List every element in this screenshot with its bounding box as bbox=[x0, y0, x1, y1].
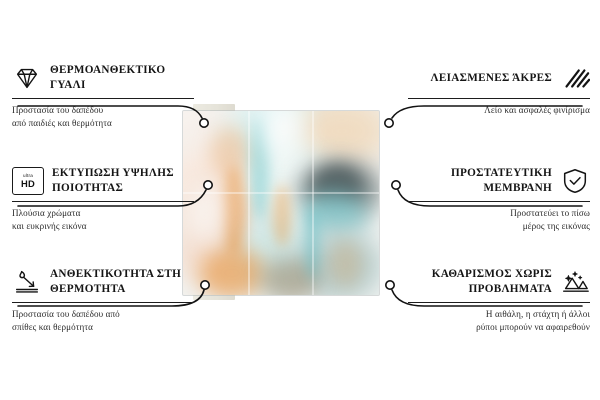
feature-heading: ultra HD ΕΚΤΥΠΩΣΗ ΥΨΗΛΗΣ ΠΟΙΟΤΗΤΑΣ bbox=[12, 165, 194, 197]
ultra-hd-icon: ultra HD bbox=[12, 167, 44, 195]
infographic-canvas: ΘΕΡΜΟΑΝΘΕΚΤΙΚΟ ΓΥΑΛΙ Προστασία του δαπέδ… bbox=[0, 0, 600, 400]
divider bbox=[408, 302, 590, 303]
feature-heading: ΑΝΘΕΚΤΙΚΟΤΗΤΑ ΣΤΗ ΘΕΡΜΟΤΗΤΑ bbox=[12, 266, 194, 298]
feature-description: Λείο και ασφαλές φινίρισμα bbox=[408, 104, 590, 117]
feature-high-quality-print[interactable]: ultra HD ΕΚΤΥΠΩΣΗ ΥΨΗΛΗΣ ΠΟΙΟΤΗΤΑΣ Πλούσ… bbox=[12, 165, 194, 233]
diamond-icon bbox=[12, 63, 42, 93]
feature-polished-edges[interactable]: ΛΕΙΑΣΜΕΝΕΣ ΆΚΡΕΣ Λείο και ασφαλές φινίρι… bbox=[408, 62, 590, 117]
feature-title: ΚΑΘΑΡΙΣΜΟΣ ΧΩΡΙΣ ΠΡΟΒΛΗΜΑΤΑ bbox=[408, 267, 552, 297]
feature-description: Προστατεύει το πίσω μέρος της εικόνας bbox=[408, 207, 590, 233]
feature-heading: ΚΑΘΑΡΙΣΜΟΣ ΧΩΡΙΣ ΠΡΟΒΛΗΜΑΤΑ bbox=[408, 266, 590, 298]
feature-heading: ΘΕΡΜΟΑΝΘΕΚΤΙΚΟ ΓΥΑΛΙ bbox=[12, 62, 194, 94]
feature-protective-membrane[interactable]: ΠΡΟΣΤΑΤΕΥΤΙΚΗ ΜΕΜΒΡΑΝΗ Προστατεύει το πί… bbox=[408, 165, 590, 233]
flame-resistance-icon bbox=[12, 267, 42, 297]
feature-heading: ΠΡΟΣΤΑΤΕΥΤΙΚΗ ΜΕΜΒΡΑΝΗ bbox=[408, 165, 590, 197]
feature-title: ΕΚΤΥΠΩΣΗ ΥΨΗΛΗΣ ΠΟΙΟΤΗΤΑΣ bbox=[52, 166, 194, 196]
divider bbox=[12, 98, 194, 99]
product-artwork bbox=[183, 111, 379, 295]
feature-heading: ΛΕΙΑΣΜΕΝΕΣ ΆΚΡΕΣ bbox=[408, 62, 590, 94]
divider bbox=[12, 302, 194, 303]
feature-easy-cleaning[interactable]: ΚΑΘΑΡΙΣΜΟΣ ΧΩΡΙΣ ΠΡΟΒΛΗΜΑΤΑ Η αιθάλη, η … bbox=[408, 266, 590, 334]
feature-description: Πλούσια χρώματα και ευκρινής εικόνα bbox=[12, 207, 194, 233]
feature-heat-durability[interactable]: ΑΝΘΕΚΤΙΚΟΤΗΤΑ ΣΤΗ ΘΕΡΜΟΤΗΤΑ Προστασία το… bbox=[12, 266, 194, 334]
sparkle-clean-icon bbox=[560, 267, 590, 297]
shield-check-icon bbox=[560, 166, 590, 196]
feature-description: Η αιθάλη, η στάχτη ή άλλοι ρύποι μπορούν… bbox=[408, 308, 590, 334]
polished-edges-icon bbox=[560, 63, 590, 93]
ultra-hd-big-label: HD bbox=[21, 179, 35, 188]
feature-description: Προστασία του δαπέδου από σπίθες και θερ… bbox=[12, 308, 194, 334]
divider bbox=[12, 201, 194, 202]
feature-title: ΛΕΙΑΣΜΕΝΕΣ ΆΚΡΕΣ bbox=[431, 71, 552, 86]
feature-description: Προστασία του δαπέδου από παιδιές και θε… bbox=[12, 104, 194, 130]
feature-heat-resistant-glass[interactable]: ΘΕΡΜΟΑΝΘΕΚΤΙΚΟ ΓΥΑΛΙ Προστασία του δαπέδ… bbox=[12, 62, 194, 130]
feature-title: ΘΕΡΜΟΑΝΘΕΚΤΙΚΟ ΓΥΑΛΙ bbox=[50, 63, 194, 93]
feature-title: ΠΡΟΣΤΑΤΕΥΤΙΚΗ ΜΕΜΒΡΑΝΗ bbox=[408, 166, 552, 196]
divider bbox=[408, 201, 590, 202]
glass-reflection-grid bbox=[183, 111, 379, 295]
divider bbox=[408, 98, 590, 99]
product-image-wrap bbox=[183, 111, 391, 295]
feature-title: ΑΝΘΕΚΤΙΚΟΤΗΤΑ ΣΤΗ ΘΕΡΜΟΤΗΤΑ bbox=[50, 267, 194, 297]
